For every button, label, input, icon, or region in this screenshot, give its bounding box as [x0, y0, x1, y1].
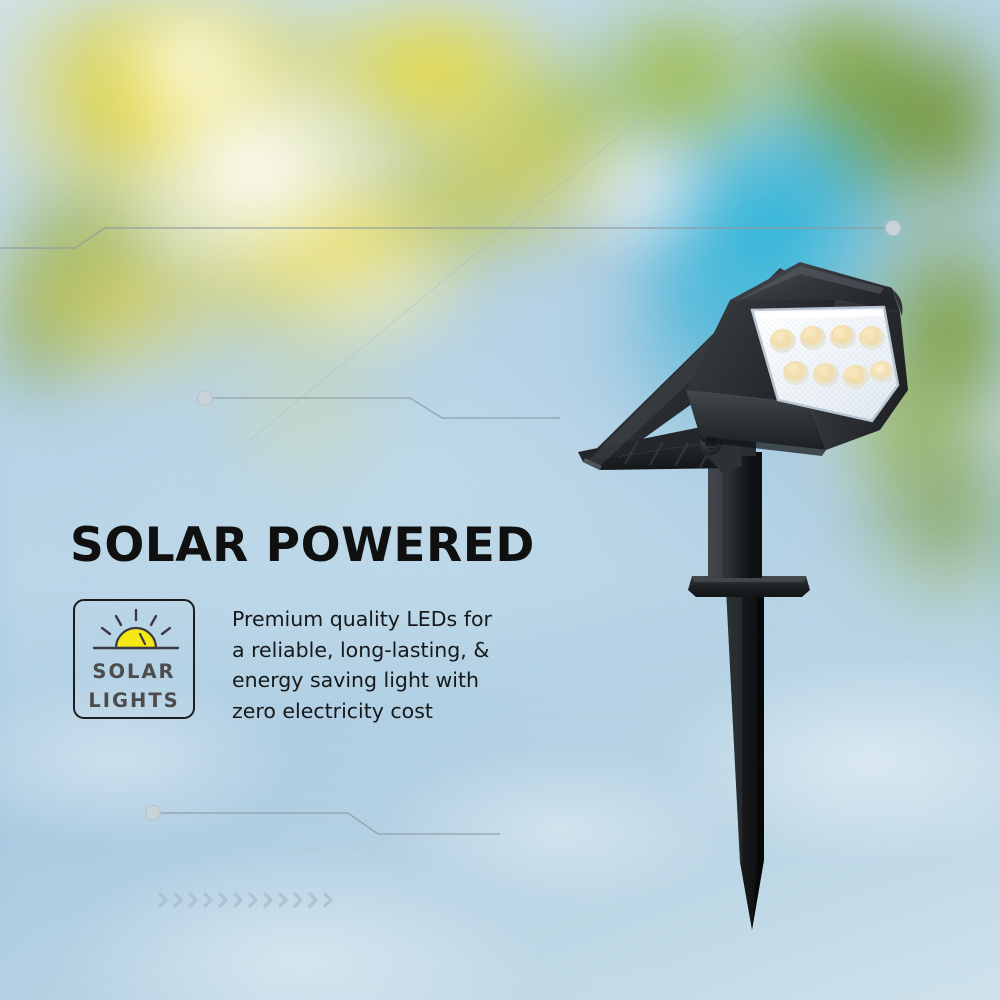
badge-line-2: LIGHTS	[75, 686, 193, 715]
feature-description: Premium quality LEDs for a reliable, lon…	[232, 604, 494, 726]
body-line-1: Premium quality LEDs for	[232, 604, 494, 635]
page-title: SOLAR POWERED	[70, 518, 535, 573]
body-line-4: zero electricity cost	[232, 696, 494, 727]
solar-lights-badge: SOLAR LIGHTS	[73, 599, 195, 719]
banner-canvas: SOLAR POWERED SOLAR LIGHTS Premium quali…	[0, 0, 1000, 1000]
background-haze	[0, 0, 1000, 1000]
badge-line-1: SOLAR	[75, 657, 193, 686]
badge-text: SOLAR LIGHTS	[75, 657, 193, 715]
body-line-3: energy saving light with	[232, 665, 494, 696]
sun-icon	[83, 606, 189, 656]
body-line-2: a reliable, long-lasting, &	[232, 635, 494, 666]
